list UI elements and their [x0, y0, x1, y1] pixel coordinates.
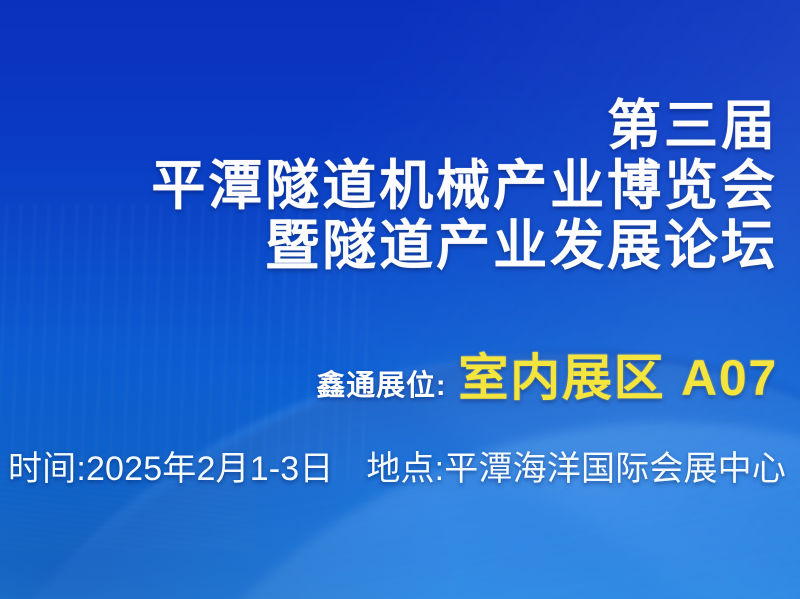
booth-label: 鑫通展位: — [316, 362, 446, 404]
headline-event-title: 平潭隧道机械产业博览会 — [151, 158, 778, 214]
event-venue: 地点:平潭海洋国际会展中心 — [366, 441, 786, 490]
headline-block: 第三届 平潭隧道机械产业博览会 暨隧道产业发展论坛 — [151, 98, 778, 274]
headline-event-subtitle: 暨隧道产业发展论坛 — [151, 218, 778, 274]
event-date: 时间:2025年2月1-3日 — [8, 441, 334, 490]
booth-row: 鑫通展位: 室内展区 A07 — [316, 338, 778, 410]
headline-edition: 第三届 — [151, 98, 778, 154]
exhibition-poster: 第三届 平潭隧道机械产业博览会 暨隧道产业发展论坛 鑫通展位: 室内展区 A07… — [0, 0, 800, 599]
footer-row: 时间:2025年2月1-3日 地点:平潭海洋国际会展中心 — [8, 441, 786, 490]
booth-number: 室内展区 A07 — [458, 338, 778, 410]
poster-content: 第三届 平潭隧道机械产业博览会 暨隧道产业发展论坛 鑫通展位: 室内展区 A07… — [0, 0, 800, 599]
